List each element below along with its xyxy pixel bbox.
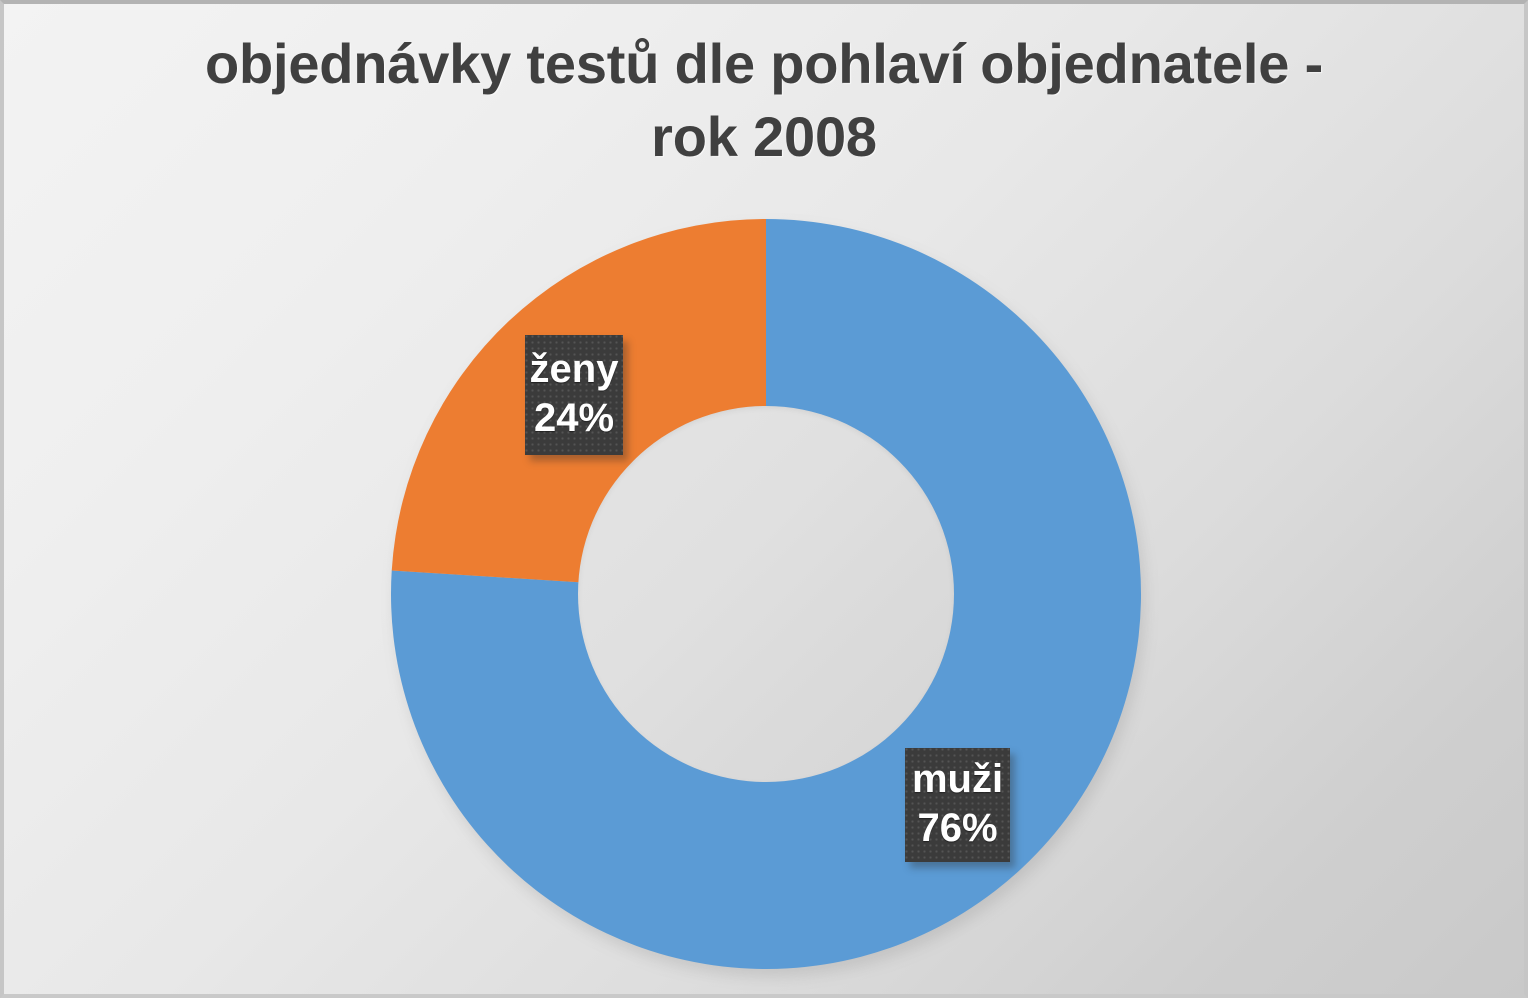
data-label-zeny-value: 24% (534, 394, 614, 443)
chart-slide: objednávky testů dle pohlaví objednatele… (0, 0, 1528, 998)
data-label-muzi-name: muži (912, 755, 1003, 804)
data-label-muzi: muži 76% (905, 748, 1010, 862)
data-label-muzi-value: 76% (917, 804, 997, 853)
data-label-zeny: ženy 24% (525, 335, 623, 455)
data-label-zeny-name: ženy (530, 345, 619, 394)
plot-area: ženy 24% muži 76% (4, 4, 1528, 998)
doughnut-hole (578, 406, 954, 782)
doughnut-chart (391, 219, 1141, 969)
